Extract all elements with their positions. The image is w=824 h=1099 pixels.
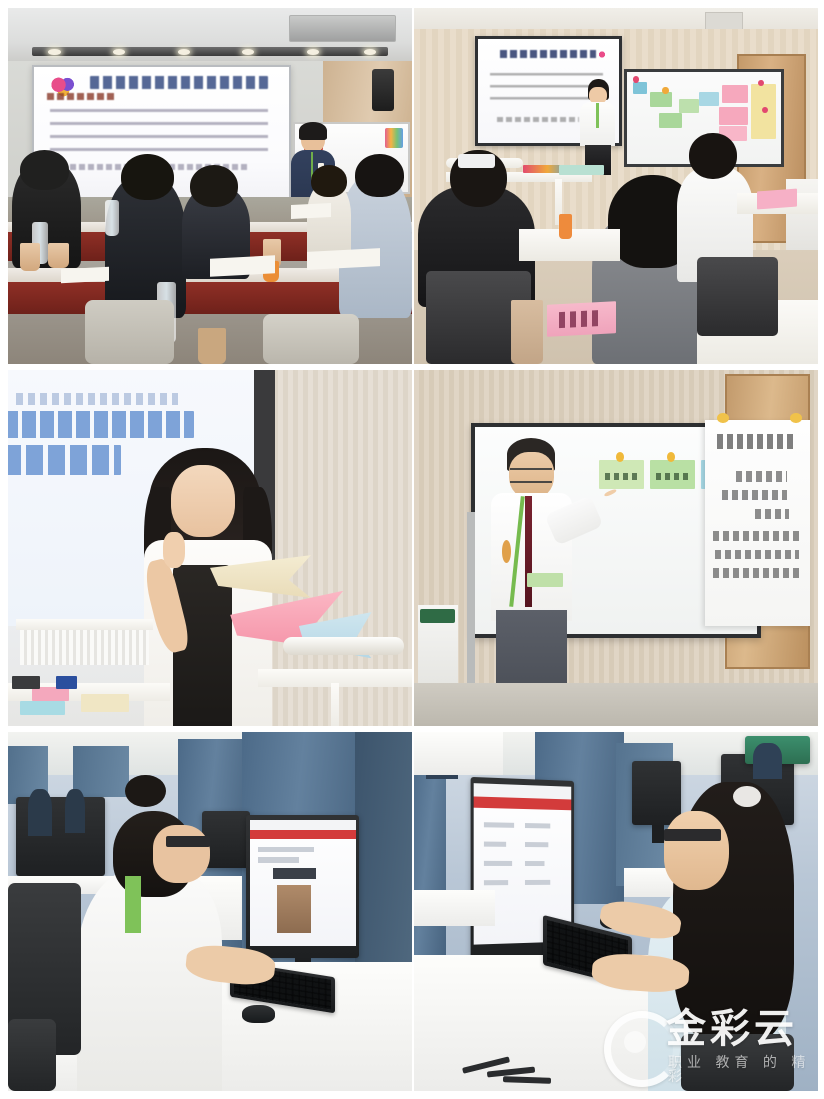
magnet-pin-icon: [633, 76, 639, 82]
eyeglasses-icon: [166, 836, 210, 847]
attendee-head: [121, 154, 174, 200]
wall-speaker-icon: [372, 69, 394, 112]
site-header-bar: [473, 796, 570, 810]
cubicle-partition: [73, 746, 130, 796]
water-bottle: [105, 200, 119, 236]
content-heading: [273, 868, 316, 879]
monitor-stand: [652, 825, 664, 843]
content-line: [483, 841, 505, 846]
office-chair: [8, 1019, 56, 1091]
presenter-figure: [580, 79, 616, 175]
desk-leg: [331, 683, 339, 726]
content-line: [258, 857, 298, 862]
office-chair: [681, 1034, 794, 1091]
student-face: [153, 825, 210, 882]
student-figure: [77, 868, 222, 1091]
necktie: [525, 496, 532, 607]
paper-documents: [210, 255, 275, 276]
projector-ledge: [16, 619, 153, 630]
sticky-note: [599, 460, 644, 489]
site-header-bar: [250, 830, 356, 839]
sticky-note-text: [605, 473, 638, 481]
drink-cup: [20, 243, 40, 271]
cart-item: [420, 609, 455, 624]
collage-cell-5[interactable]: Student in a white T-shirt working at a …: [8, 732, 412, 1091]
sticky-note-pad: [20, 701, 64, 715]
content-line: [525, 823, 550, 828]
paper-documents: [61, 267, 109, 284]
color-marker-strip: [385, 128, 403, 148]
attendee-head: [190, 165, 238, 208]
attendee-head: [355, 154, 403, 197]
paper-stack: [559, 165, 603, 176]
spot-light-icon: [178, 49, 190, 55]
banner-line-small: [16, 393, 178, 404]
content-line: [258, 847, 313, 852]
sticky-note: [650, 92, 671, 107]
collage-cell-3[interactable]: Female trainer holding paper airplanes i…: [8, 370, 412, 726]
iced-drink-cup: [511, 300, 543, 364]
pink-name-card: [547, 302, 616, 338]
badge-emblem-icon: [502, 540, 511, 562]
banner-line-2: [8, 445, 121, 475]
browser-toolbar: [250, 820, 356, 830]
white-desk: [414, 890, 495, 926]
sticky-note: [679, 99, 699, 113]
tape-dispenser-icon: [56, 676, 76, 688]
attendee-head: [689, 133, 737, 179]
hair-tie-icon: [458, 154, 494, 168]
drink-cup: [198, 328, 226, 364]
collage-cell-6[interactable]: Student with long hair and glasses typin…: [414, 732, 818, 1091]
slide-closing-text: [497, 117, 579, 122]
hair-bun: [125, 775, 165, 807]
background-person: [65, 789, 85, 832]
ceiling-vent-icon: [705, 12, 743, 32]
spot-light-icon: [48, 49, 60, 55]
photo-competition-banner-trainer: Female trainer holding paper airplanes i…: [8, 370, 412, 726]
background-monitor: [632, 761, 680, 826]
paper-roll: [283, 637, 404, 655]
flipchart-line: [722, 490, 787, 500]
sticky-note: [722, 85, 748, 103]
trainer-face: [171, 465, 235, 537]
name-card-text: [560, 310, 604, 328]
radiator-panel: [20, 630, 149, 666]
banner-line-1: [8, 411, 194, 438]
slide-subtitle-text: [47, 93, 116, 100]
slide-logo-icon: [598, 50, 606, 59]
content-image: [277, 885, 311, 933]
content-line: [525, 842, 548, 847]
photo-sticky-note-workshop: Classroom with a female presenter beside…: [414, 8, 818, 364]
magnet-pin-icon: [758, 80, 764, 86]
attendee-head: [311, 165, 347, 197]
background-whiteboard: [414, 732, 503, 775]
flip-chart-paper: [705, 420, 810, 626]
photo-collage: Training classroom with a presenter stan…: [0, 0, 824, 1099]
presenter-hair: [299, 122, 327, 140]
mouse[interactable]: [242, 1005, 274, 1023]
photo-classroom-presentation: Training classroom with a presenter stan…: [8, 8, 412, 364]
desktop-monitor: [246, 815, 359, 959]
office-chair: [697, 257, 778, 335]
sticky-note: [650, 460, 695, 489]
sticky-note: [719, 107, 748, 126]
sticky-note-pad: [81, 694, 129, 712]
slide-body-text: [50, 106, 269, 152]
content-line: [483, 861, 511, 866]
photo-computer-lab-left: Student in a white T-shirt working at a …: [8, 732, 412, 1091]
trainer-hand: [163, 532, 186, 568]
eyeglasses-icon: [664, 829, 721, 842]
attendee-head: [20, 150, 68, 189]
flipchart-line: [713, 568, 801, 577]
paper-documents: [291, 203, 331, 219]
pens-on-desk: [503, 1076, 552, 1083]
content-line: [525, 880, 550, 885]
stapler-icon: [12, 676, 40, 688]
collage-grid: Training classroom with a presenter stan…: [8, 8, 816, 1091]
held-paper: [527, 573, 563, 587]
slide-title-text: [90, 76, 268, 88]
background-person: [753, 743, 781, 779]
green-lanyard: [125, 876, 141, 933]
flipchart-heading-text: [717, 434, 797, 448]
spot-light-icon: [242, 49, 254, 55]
chair-back: [85, 300, 174, 364]
flipchart-line: [713, 531, 799, 540]
spot-light-icon: [364, 49, 376, 55]
pink-name-card: [757, 188, 797, 209]
chair-back: [263, 314, 360, 364]
ceiling-light-rail: [32, 47, 388, 56]
photo-whiteboard-trainer: Male trainer in white shirt and tie poin…: [414, 370, 818, 726]
flipchart-line: [715, 550, 799, 559]
content-line: [483, 822, 513, 827]
sticky-note: [699, 92, 719, 106]
magnet-pin-icon: [790, 413, 802, 424]
sticky-note-text: [656, 473, 689, 481]
sticky-note: [633, 82, 647, 94]
collage-cell-4[interactable]: Male trainer in white shirt and tie poin…: [414, 370, 818, 726]
background-person: [28, 789, 52, 836]
content-line: [525, 861, 544, 866]
slide-title-text: [500, 50, 596, 58]
spot-light-icon: [307, 49, 319, 55]
sticky-note-pad: [32, 687, 68, 701]
photo-computer-lab-right: Student with long hair and glasses typin…: [414, 732, 818, 1091]
flipchart-line: [736, 471, 786, 481]
drink-cup: [48, 243, 68, 268]
spot-light-icon: [113, 49, 125, 55]
student-face: [664, 811, 729, 890]
floor: [414, 683, 818, 726]
cone-cup: [559, 214, 571, 239]
collage-cell-2[interactable]: Classroom with a female presenter beside…: [414, 8, 818, 364]
content-line: [483, 880, 507, 885]
collage-cell-1[interactable]: Training classroom with a presenter stan…: [8, 8, 412, 364]
magnet-pin-icon: [662, 87, 668, 93]
monitor-screen: [250, 820, 356, 946]
sticky-note: [659, 113, 682, 128]
eyeglasses-icon: [510, 468, 552, 483]
flipchart-line: [755, 509, 789, 519]
air-conditioner-icon: [289, 15, 396, 42]
